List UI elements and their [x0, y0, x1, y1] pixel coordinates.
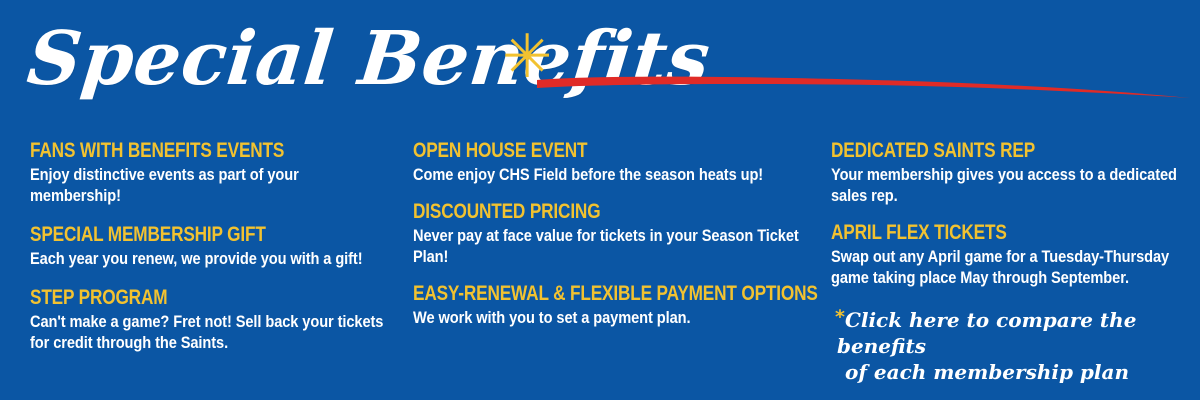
benefits-column-3: DEDICATED SAINTS REP Your membership giv… — [820, 140, 1200, 385]
benefits-column-2: OPEN HOUSE EVENT Come enjoy CHS Field be… — [410, 140, 820, 344]
banner-header: Special Benefits ✳ — [0, 0, 1200, 130]
benefit-body: Each year you renew, we provide you with… — [30, 248, 391, 269]
benefit-item: SPECIAL MEMBERSHIP GIFT Each year you re… — [30, 224, 392, 269]
benefit-heading: APRIL FLEX TICKETS — [831, 222, 1119, 244]
asterisk-icon: ✳ — [502, 34, 548, 80]
benefit-heading: FANS WITH BENEFITS EVENTS — [30, 140, 327, 162]
compare-plans-line-2: of each membership plan — [837, 359, 1182, 385]
benefit-body: Swap out any April game for a Tuesday-Th… — [831, 246, 1181, 288]
compare-plans-line-1: Click here to compare the benefits — [837, 308, 1136, 358]
benefit-item: APRIL FLEX TICKETS Swap out any April ga… — [831, 222, 1182, 288]
benefit-item: DISCOUNTED PRICING Never pay at face val… — [413, 201, 802, 267]
benefit-heading: SPECIAL MEMBERSHIP GIFT — [30, 224, 327, 246]
benefit-body: Never pay at face value for tickets in y… — [413, 225, 801, 267]
benefit-heading: OPEN HOUSE EVENT — [413, 140, 732, 162]
benefits-columns: FANS WITH BENEFITS EVENTS Enjoy distinct… — [0, 140, 1200, 400]
benefit-item: EASY-RENEWAL & FLEXIBLE PAYMENT OPTIONS … — [413, 283, 802, 328]
benefit-item: OPEN HOUSE EVENT Come enjoy CHS Field be… — [413, 140, 802, 185]
benefit-heading: DISCOUNTED PRICING — [413, 201, 732, 223]
benefit-item: FANS WITH BENEFITS EVENTS Enjoy distinct… — [30, 140, 392, 206]
compare-plans-link[interactable]: *Click here to compare the benefits of e… — [831, 304, 1182, 385]
benefit-body: Enjoy distinctive events as part of your… — [30, 164, 391, 206]
page-title: Special Benefits — [24, 22, 713, 96]
benefit-body: Can't make a game? Fret not! Sell back y… — [30, 311, 391, 353]
benefit-body: We work with you to set a payment plan. — [413, 307, 801, 328]
benefit-body: Your membership gives you access to a de… — [831, 164, 1181, 206]
benefit-heading: STEP PROGRAM — [30, 287, 327, 309]
benefits-column-1: FANS WITH BENEFITS EVENTS Enjoy distinct… — [0, 140, 410, 371]
special-benefits-banner: Special Benefits ✳ FANS WITH BENEFITS EV… — [0, 0, 1200, 400]
benefit-item: DEDICATED SAINTS REP Your membership giv… — [831, 140, 1182, 206]
benefit-item: STEP PROGRAM Can't make a game? Fret not… — [30, 287, 392, 353]
benefit-body: Come enjoy CHS Field before the season h… — [413, 164, 801, 185]
benefit-heading: EASY-RENEWAL & FLEXIBLE PAYMENT OPTIONS — [413, 283, 732, 305]
footnote-asterisk-icon: * — [835, 306, 845, 328]
benefit-heading: DEDICATED SAINTS REP — [831, 140, 1119, 162]
